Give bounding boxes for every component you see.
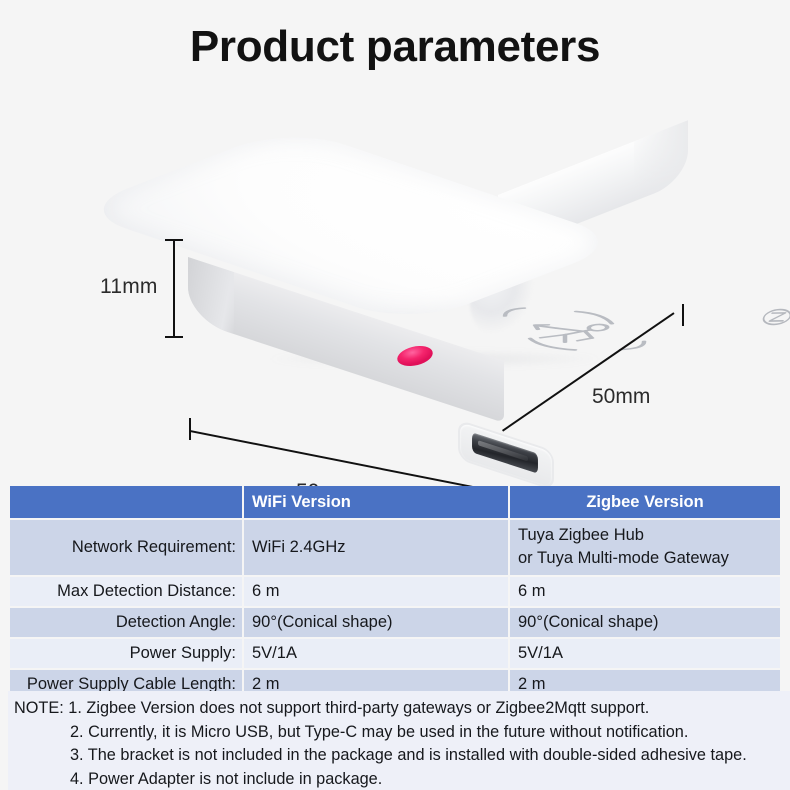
row-label: Network Requirement: xyxy=(10,520,242,575)
row-label: Max Detection Distance: xyxy=(10,577,242,606)
table-header-zigbee: Zigbee Version xyxy=(510,486,780,518)
zigbee-emblem-icon xyxy=(758,308,790,327)
table-row: Power Supply: 5V/1A 5V/1A xyxy=(10,639,780,668)
device-render xyxy=(170,118,700,428)
row-value-zigbee-line2: or Tuya Multi-mode Gateway xyxy=(518,547,772,570)
height-dimension-cap-top xyxy=(165,239,183,241)
row-value-zigbee-line1: Tuya Zigbee Hub xyxy=(518,524,772,547)
table-row: Detection Angle: 90°(Conical shape) 90°(… xyxy=(10,608,780,637)
width-dimension-cap-left xyxy=(189,418,191,440)
note-line-4: 4. Power Adapter is not include in packa… xyxy=(14,768,786,790)
depth-dimension-cap-right xyxy=(682,304,684,326)
row-value-wifi: 5V/1A xyxy=(244,639,508,668)
row-value-zigbee: Tuya Zigbee Hub or Tuya Multi-mode Gatew… xyxy=(510,520,780,575)
table-row: Network Requirement: WiFi 2.4GHz Tuya Zi… xyxy=(10,520,780,575)
row-value-wifi: 6 m xyxy=(244,577,508,606)
product-image-area: 11mm 50mm 50mm xyxy=(0,100,790,470)
row-value-wifi: WiFi 2.4GHz xyxy=(244,520,508,575)
table-header-blank xyxy=(10,486,242,518)
product-parameters-page: Product parameters xyxy=(0,0,790,790)
specs-table-wrapper: WiFi Version Zigbee Version Network Requ… xyxy=(8,484,782,701)
row-label: Power Supply: xyxy=(10,639,242,668)
row-value-wifi: 90°(Conical shape) xyxy=(244,608,508,637)
height-dimension-line xyxy=(173,240,175,338)
row-label: Detection Angle: xyxy=(10,608,242,637)
table-row: Max Detection Distance: 6 m 6 m xyxy=(10,577,780,606)
row-value-zigbee: 6 m xyxy=(510,577,780,606)
depth-dimension-label: 50mm xyxy=(592,385,650,409)
specs-table: WiFi Version Zigbee Version Network Requ… xyxy=(8,484,782,701)
notes-block: NOTE: 1. Zigbee Version does not support… xyxy=(8,691,790,790)
height-dimension-label: 11mm xyxy=(100,275,158,299)
row-value-zigbee: 90°(Conical shape) xyxy=(510,608,780,637)
note-line-1: NOTE: 1. Zigbee Version does not support… xyxy=(14,697,786,721)
table-header-row: WiFi Version Zigbee Version xyxy=(10,486,780,518)
table-header-wifi: WiFi Version xyxy=(244,486,508,518)
row-value-zigbee: 5V/1A xyxy=(510,639,780,668)
page-title: Product parameters xyxy=(0,22,790,72)
note-line-2: 2. Currently, it is Micro USB, but Type-… xyxy=(14,721,786,745)
height-dimension-cap-bottom xyxy=(165,336,183,338)
note-line-3: 3. The bracket is not included in the pa… xyxy=(14,744,786,768)
